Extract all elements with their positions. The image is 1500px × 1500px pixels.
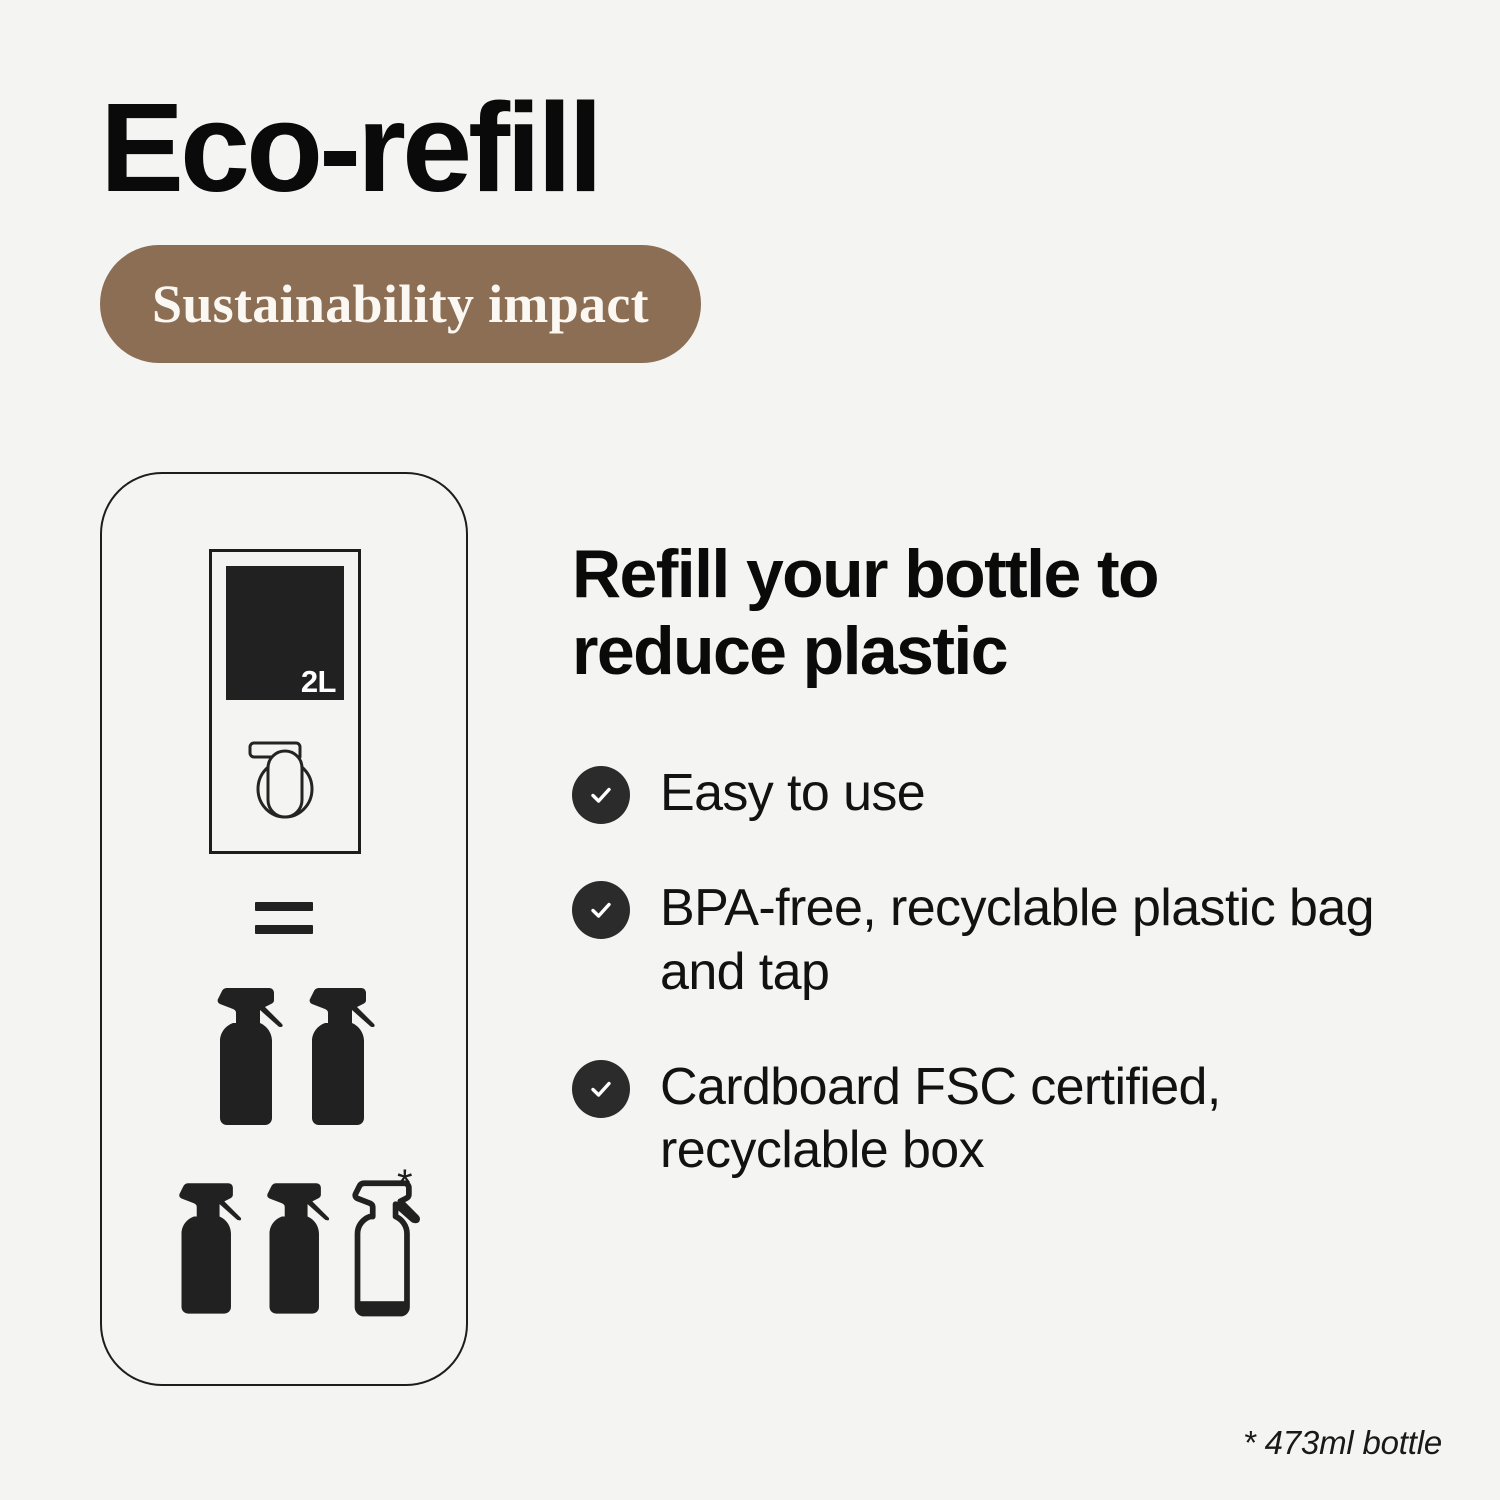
carton-label-block: 2L [226,566,344,700]
headline: Refill your bottle to reduce plastic [572,536,1312,690]
main-content: Refill your bottle to reduce plastic Eas… [572,536,1452,1183]
list-item: Cardboard FSC certified, recyclable box [572,1056,1452,1183]
spray-bottle-icon [172,1174,250,1339]
tap-spigot-icon [240,727,330,827]
spray-bottle-icon [210,979,292,1151]
illustration-panel: 2L [100,472,468,1386]
check-icon [572,766,630,824]
equals-bar-bottom [255,925,313,934]
page-title: Eco-refill [100,82,599,214]
list-item: BPA-free, recyclable plastic bag and tap [572,877,1452,1004]
bottle-row-two [210,979,384,1151]
refill-carton: 2L [209,549,361,854]
status-badge: Sustainability impact [100,245,701,363]
feature-label: Easy to use [660,762,925,825]
check-icon [572,1060,630,1118]
equals-bar-top [255,902,313,911]
spray-bottle-icon [302,979,384,1151]
spray-bottle-outline-icon [348,1174,426,1339]
feature-label: Cardboard FSC certified, recyclable box [660,1056,1452,1183]
carton-volume-label: 2L [301,666,336,697]
bottle-row-three [172,1174,426,1339]
spray-bottle-icon [260,1174,338,1339]
equals-symbol [255,902,313,934]
list-item: Easy to use [572,762,1452,825]
footnote: * 473ml bottle [1243,1424,1442,1462]
footnote-asterisk-marker: * [397,1164,413,1204]
status-badge-label: Sustainability impact [152,273,649,335]
check-icon [572,881,630,939]
feature-label: BPA-free, recyclable plastic bag and tap [660,877,1452,1004]
feature-list: Easy to use BPA-free, recyclable plastic… [572,762,1452,1183]
